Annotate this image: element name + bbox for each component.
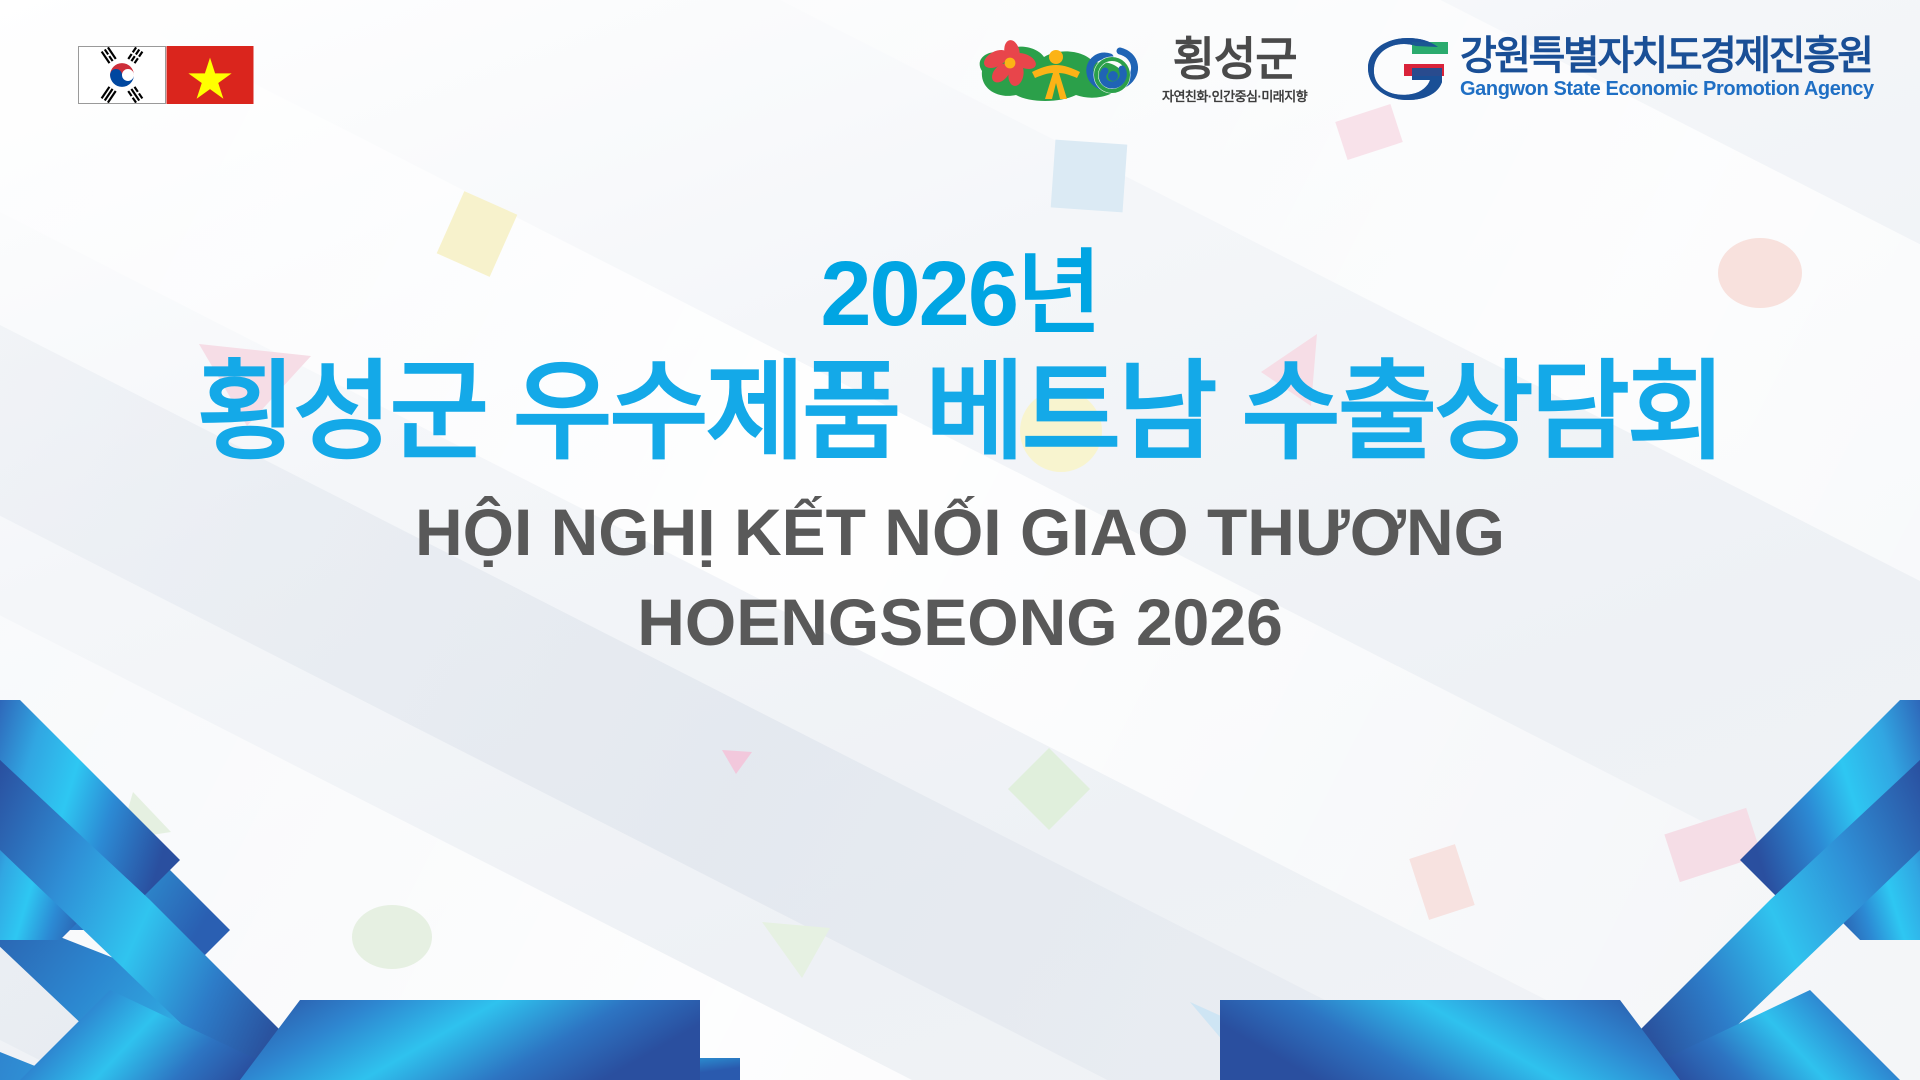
- title-korean-main: 횡성군 우수제품 베트남 수출상담회: [197, 356, 1723, 468]
- title-year: 2026년: [820, 248, 1099, 340]
- title-vietnamese: HỘI NGHỊ KẾT NỐI GIAO THƯƠNG: [415, 494, 1505, 572]
- poster-canvas: 횡성군 자연친화·인간중심·미래지향 강원특별자치도경제진흥원 Gangwon …: [0, 0, 1920, 1080]
- title-block: 2026년 횡성군 우수제품 베트남 수출상담회 HỘI NGHỊ KẾT NỐ…: [0, 0, 1920, 1080]
- title-english: HOENGSEONG 2026: [637, 584, 1283, 662]
